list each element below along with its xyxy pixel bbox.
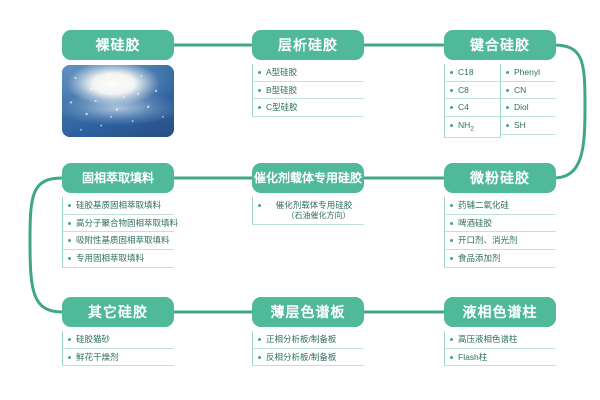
node-body-spe-sorbent: 硅胶基质固相萃取填料 高分子聚合物固相萃取填料 吸附性基质固相萃取填料 专用固相… [62, 197, 174, 268]
list-item[interactable]: C8 [445, 82, 500, 100]
list-item[interactable]: Phenyl [501, 64, 556, 82]
node-chromatography-silica[interactable]: 层析硅胶 A型硅胶 B型硅胶 C型硅胶 [252, 30, 364, 117]
node-body-lc-column: 高压液相色谱柱 Flash柱 [444, 331, 556, 366]
item-list-catalyst-carrier: 催化剂载体专用硅胶 （石油催化方向） [253, 197, 364, 225]
list-item[interactable]: Diol [501, 99, 556, 117]
node-spe-sorbent[interactable]: 固相萃取填料 硅胶基质固相萃取填料 高分子聚合物固相萃取填料 吸附性基质固相萃取… [62, 163, 174, 268]
list-item-label: NH [458, 120, 470, 130]
item-list-lc-column: 高压液相色谱柱 Flash柱 [445, 331, 556, 366]
list-item[interactable]: C型硅胶 [253, 99, 364, 117]
node-body-micronized-silica: 药辅二氧化硅 啤酒硅胶 开口剂、消光剂 食品添加剂 [444, 197, 556, 268]
node-title-catalyst-carrier-silica: 催化剂载体专用硅胶 [252, 163, 364, 193]
node-bonded-silica[interactable]: 键合硅胶 C18 C8 C4 NH2 Phenyl CN Diol SH [444, 30, 556, 138]
node-title-lc-column: 液相色谱柱 [444, 297, 556, 327]
node-micronized-silica[interactable]: 微粉硅胶 药辅二氧化硅 啤酒硅胶 开口剂、消光剂 食品添加剂 [444, 163, 556, 268]
node-title-bare-silica: 裸硅胶 [62, 30, 174, 60]
list-item[interactable]: NH2 [445, 117, 500, 138]
list-item[interactable]: SH [501, 117, 556, 135]
list-item-note: （石油催化方向） [266, 211, 362, 221]
node-body-bonded-silica: C18 C8 C4 NH2 Phenyl CN Diol SH [444, 64, 556, 138]
list-item[interactable]: 硅胶猫砂 [63, 331, 174, 349]
list-item[interactable]: B型硅胶 [253, 82, 364, 100]
node-catalyst-carrier-silica[interactable]: 催化剂载体专用硅胶 催化剂载体专用硅胶 （石油催化方向） [252, 163, 364, 225]
list-item[interactable]: A型硅胶 [253, 64, 364, 82]
node-title-spe-sorbent: 固相萃取填料 [62, 163, 174, 193]
list-item[interactable]: 食品添加剂 [445, 250, 556, 268]
item-list-bonded-right: Phenyl CN Diol SH [501, 64, 556, 135]
bonded-silica-column-left: C18 C8 C4 NH2 [444, 64, 500, 138]
item-list-other-silica: 硅胶猫砂 鲜花干燥剂 [63, 331, 174, 366]
list-item[interactable]: 硅胶基质固相萃取填料 [63, 197, 174, 215]
node-title-micronized-silica: 微粉硅胶 [444, 163, 556, 193]
item-list-spe-sorbent: 硅胶基质固相萃取填料 高分子聚合物固相萃取填料 吸附性基质固相萃取填料 专用固相… [63, 197, 174, 268]
node-other-silica[interactable]: 其它硅胶 硅胶猫砂 鲜花干燥剂 [62, 297, 174, 366]
list-item[interactable]: 啤酒硅胶 [445, 215, 556, 233]
connector-right-curve [553, 45, 585, 178]
list-item[interactable]: CN [501, 82, 556, 100]
node-body-catalyst-carrier-silica: 催化剂载体专用硅胶 （石油催化方向） [252, 197, 364, 225]
list-item[interactable]: 鲜花干燥剂 [63, 349, 174, 367]
list-item[interactable]: 专用固相萃取填料 [63, 250, 174, 268]
connector-left-curve [30, 178, 62, 312]
item-list-chromatography-silica: A型硅胶 B型硅胶 C型硅胶 [253, 64, 364, 117]
bare-silica-photo [62, 65, 174, 137]
photo-granules [62, 65, 174, 137]
list-item[interactable]: 催化剂载体专用硅胶 （石油催化方向） [253, 197, 364, 225]
node-body-other-silica: 硅胶猫砂 鲜花干燥剂 [62, 331, 174, 366]
list-item[interactable]: 高分子聚合物固相萃取填料 [63, 215, 174, 233]
list-item-label: 催化剂载体专用硅胶 [276, 200, 353, 210]
list-item[interactable]: Flash柱 [445, 349, 556, 367]
node-title-chromatography-silica: 层析硅胶 [252, 30, 364, 60]
item-list-tlc-plate: 正相分析板/制备板 反相分析板/制备板 [253, 331, 364, 366]
list-item-subscript: 2 [470, 126, 474, 133]
list-item[interactable]: C4 [445, 99, 500, 117]
node-bare-silica[interactable]: 裸硅胶 [62, 30, 174, 137]
item-list-micronized-silica: 药辅二氧化硅 啤酒硅胶 开口剂、消光剂 食品添加剂 [445, 197, 556, 268]
node-title-other-silica: 其它硅胶 [62, 297, 174, 327]
list-item[interactable]: C18 [445, 64, 500, 82]
node-tlc-plate[interactable]: 薄层色谱板 正相分析板/制备板 反相分析板/制备板 [252, 297, 364, 366]
item-list-bonded-left: C18 C8 C4 NH2 [445, 64, 500, 138]
product-category-diagram: 裸硅胶 层析硅胶 A型硅胶 B型硅胶 C型硅胶 键合硅胶 C18 C8 C4 N… [0, 0, 600, 400]
list-item[interactable]: 开口剂、消光剂 [445, 232, 556, 250]
node-body-tlc-plate: 正相分析板/制备板 反相分析板/制备板 [252, 331, 364, 366]
list-item[interactable]: 高压液相色谱柱 [445, 331, 556, 349]
bonded-silica-column-right: Phenyl CN Diol SH [500, 64, 556, 138]
list-item[interactable]: 反相分析板/制备板 [253, 349, 364, 367]
node-lc-column[interactable]: 液相色谱柱 高压液相色谱柱 Flash柱 [444, 297, 556, 366]
node-title-bonded-silica: 键合硅胶 [444, 30, 556, 60]
node-body-chromatography-silica: A型硅胶 B型硅胶 C型硅胶 [252, 64, 364, 117]
list-item[interactable]: 吸附性基质固相萃取填料 [63, 232, 174, 250]
list-item[interactable]: 正相分析板/制备板 [253, 331, 364, 349]
list-item[interactable]: 药辅二氧化硅 [445, 197, 556, 215]
node-title-tlc-plate: 薄层色谱板 [252, 297, 364, 327]
